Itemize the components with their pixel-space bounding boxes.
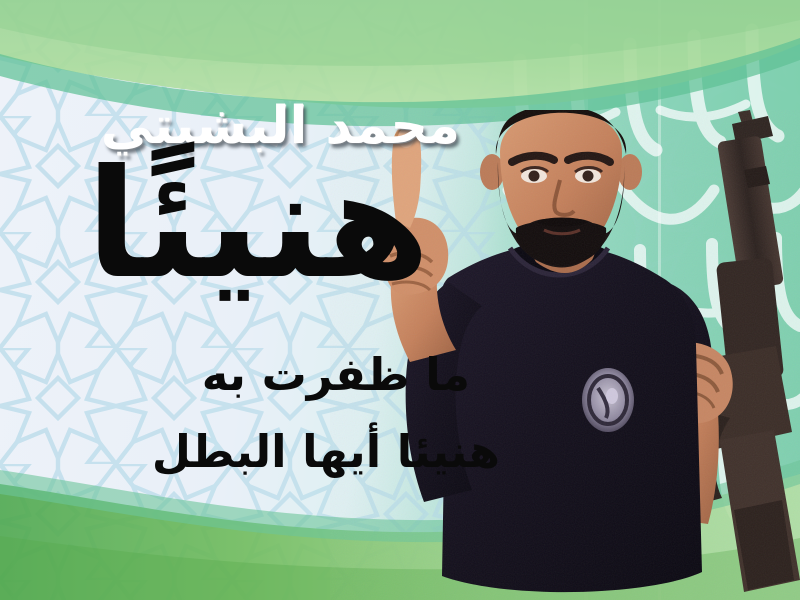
- martyr-poster: محمد البشيتي هنيئًا ما ظفرت به هنيئا أيه…: [0, 0, 800, 600]
- body-line-2: هنيئا أيها البطل: [152, 425, 500, 478]
- head: [480, 110, 642, 267]
- shirt-circular-emblem: [582, 368, 634, 432]
- headline-calligraphy: هنيئًا: [86, 150, 430, 300]
- body-line-1: ما ظفرت به: [202, 348, 470, 401]
- black-tshirt: [441, 244, 702, 592]
